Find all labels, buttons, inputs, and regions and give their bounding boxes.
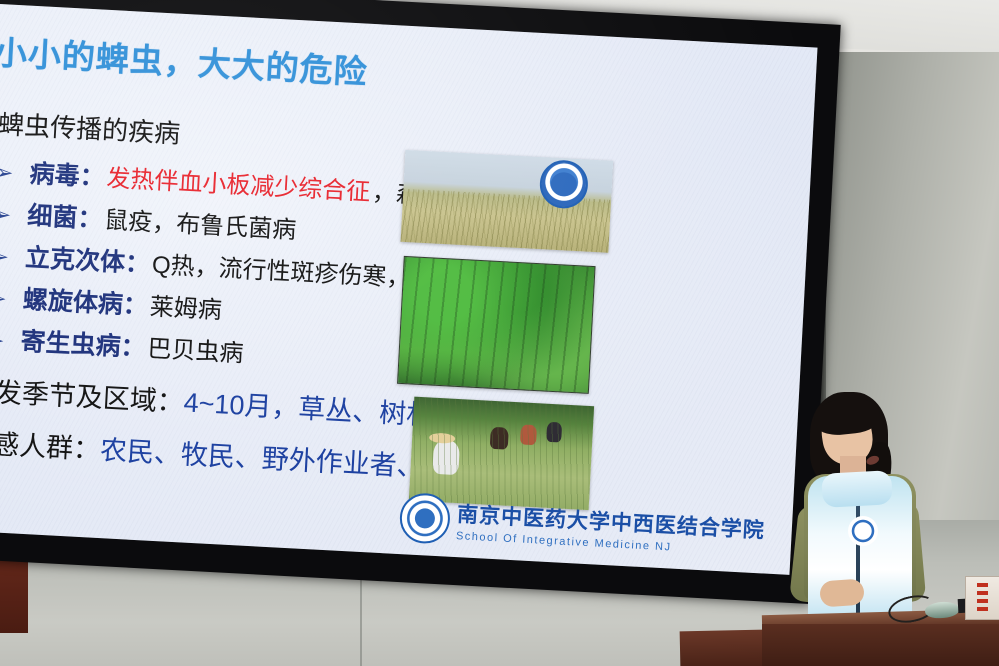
summary-prefix: 易感人群： xyxy=(0,428,101,465)
farmer-figure xyxy=(520,424,537,445)
presentation-slide: 小小的蜱虫，大大的危险 蜱虫传播的疾病 ➢ 病毒 ： 发热伴血小板减少综合征 ，… xyxy=(0,3,818,575)
name-card xyxy=(965,576,999,620)
footer-logo: 南京中医药大学中西医结合学院 School Of Integrative Med… xyxy=(399,492,766,561)
footer-logo-text: 南京中医药大学中西医结合学院 School Of Integrative Med… xyxy=(456,498,766,558)
bullet-colon: ： xyxy=(122,285,149,322)
photo-forest xyxy=(397,256,596,394)
summary-prefix: 高发季节及区域： xyxy=(0,376,185,417)
hands xyxy=(819,578,865,607)
bullet-value: 莱姆病 xyxy=(149,286,223,325)
bullet-colon: ： xyxy=(124,243,151,280)
bullet-colon: ： xyxy=(79,157,106,194)
bullet-highlight: 发热伴血小板减少综合征 xyxy=(106,158,371,207)
farmer-figure xyxy=(490,427,509,450)
slide-title: 小小的蜱虫，大大的危险 xyxy=(0,26,369,94)
farmer-figure xyxy=(546,422,562,443)
name-card-text xyxy=(977,583,988,613)
bullet-label: 立克次体 xyxy=(24,238,126,279)
arrow-bullet-icon: ➢ xyxy=(0,330,21,353)
podium-body xyxy=(762,624,999,666)
bullet-value: 巴贝虫病 xyxy=(147,328,245,368)
bullet-label: 细菌 xyxy=(27,196,79,235)
bullet-label: 病毒 xyxy=(29,154,81,193)
arrow-bullet-icon: ➢ xyxy=(0,288,24,311)
bullet-colon: ： xyxy=(120,327,147,364)
bullet-colon: ： xyxy=(77,199,104,236)
arrow-bullet-icon: ➢ xyxy=(0,204,28,227)
farmer-figure xyxy=(432,440,460,475)
bullet-label: 螺旋体病 xyxy=(22,280,124,321)
lecture-hall-photo: 小小的蜱虫，大大的危险 蜱虫传播的疾病 ➢ 病毒 ： 发热伴血小板减少综合征 ，… xyxy=(0,0,999,666)
projection-screen: 小小的蜱虫，大大的危险 蜱虫传播的疾病 ➢ 病毒 ： 发热伴血小板减少综合征 ，… xyxy=(0,0,841,604)
arrow-bullet-icon: ➢ xyxy=(0,246,26,269)
arrow-bullet-icon: ➢ xyxy=(0,162,30,185)
photo-reeds-grass xyxy=(401,150,614,253)
school-seal-icon xyxy=(399,492,452,545)
bullet-label: 寄生虫病 xyxy=(20,322,122,363)
volunteer-emblem-icon xyxy=(848,516,878,546)
vest-collar xyxy=(821,470,893,508)
slide-subtitle: 蜱虫传播的疾病 xyxy=(0,104,181,151)
